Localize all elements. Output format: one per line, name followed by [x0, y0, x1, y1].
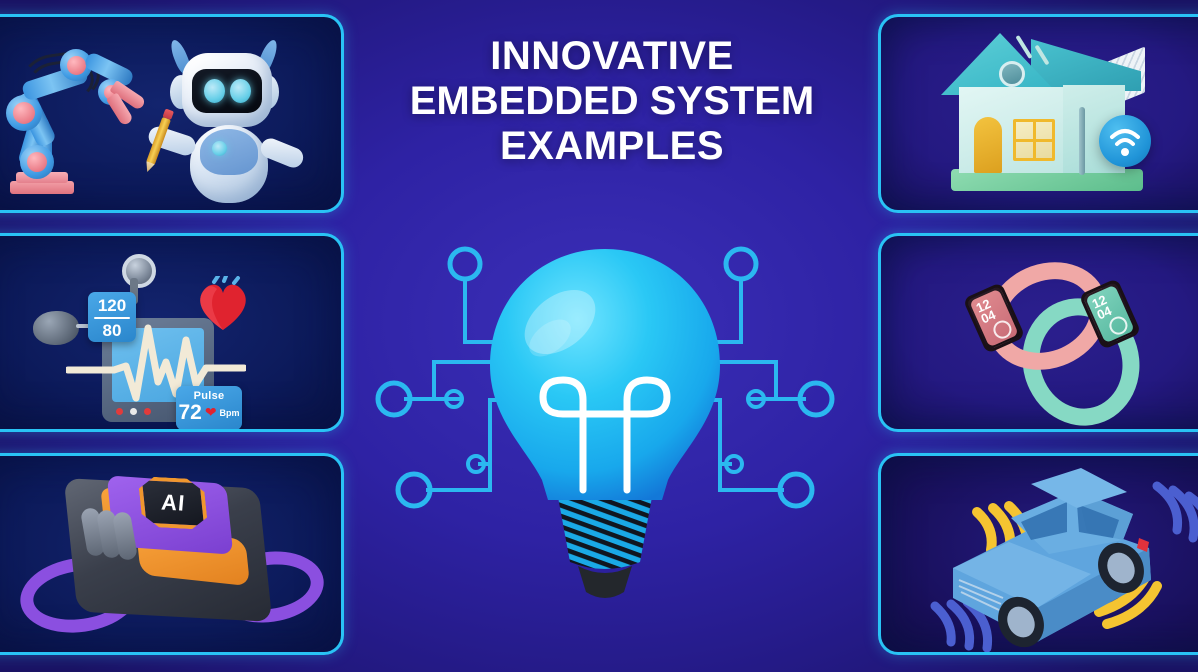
card-autonomous-vehicle[interactable] [878, 453, 1198, 655]
pressure-gauge-icon [122, 254, 156, 288]
card-fitness-trackers[interactable]: 12 04 12 04 [878, 233, 1198, 432]
fitness-tracker-illustration: 12 04 12 04 [881, 236, 1198, 429]
robotics-illustration [0, 17, 341, 210]
smart-home-illustration [881, 17, 1198, 210]
house-drainpipe [1079, 107, 1085, 175]
arm-joint-lower [20, 145, 54, 179]
page-title: INNOVATIVE EMBEDDED SYSTEM EXAMPLES [372, 34, 852, 170]
robot-eye-left [204, 79, 225, 103]
center-lightbulb-graphic [372, 232, 838, 632]
house-attic-window [999, 61, 1025, 87]
title-line-2: EMBEDDED SYSTEM [372, 79, 852, 124]
car-sensor-svg [881, 456, 1198, 655]
robot-eye-right [230, 79, 251, 103]
pulse-value: 72 [178, 402, 201, 423]
card-ai-device[interactable]: AI [0, 453, 344, 655]
card-robotics[interactable] [0, 14, 344, 213]
bp-divider [94, 317, 130, 319]
house-window-icon [1013, 119, 1055, 161]
medical-illustration: 120 80 Pulse 72 ❤ Bpm [0, 236, 341, 429]
robot-chest-light [212, 141, 227, 156]
card-smart-home[interactable] [878, 14, 1198, 213]
bp-systolic: 120 [88, 297, 136, 314]
robot-face-screen [192, 69, 262, 113]
ai-device-illustration: AI [0, 456, 341, 652]
autonomous-vehicle-illustration [881, 456, 1198, 652]
pulse-heart-icon: ❤ [205, 404, 217, 421]
blood-pressure-badge: 120 80 [88, 292, 136, 342]
lightbulb-circuit-svg [372, 232, 838, 632]
bp-diastolic: 80 [88, 322, 136, 339]
card-medical-monitoring[interactable]: 120 80 Pulse 72 ❤ Bpm [0, 233, 344, 432]
robot-chest-panel [200, 129, 258, 175]
pulse-badge: Pulse 72 ❤ Bpm [176, 386, 242, 430]
pulse-unit: Bpm [220, 408, 240, 418]
arm-joint-mid [6, 95, 42, 131]
title-line-3: EXAMPLES [372, 124, 852, 169]
wifi-icon [1099, 115, 1151, 167]
title-line-1: INNOVATIVE [372, 34, 852, 79]
house-door-icon [974, 117, 1002, 173]
poster-canvas: INNOVATIVE EMBEDDED SYSTEM EXAMPLES [0, 0, 1198, 672]
